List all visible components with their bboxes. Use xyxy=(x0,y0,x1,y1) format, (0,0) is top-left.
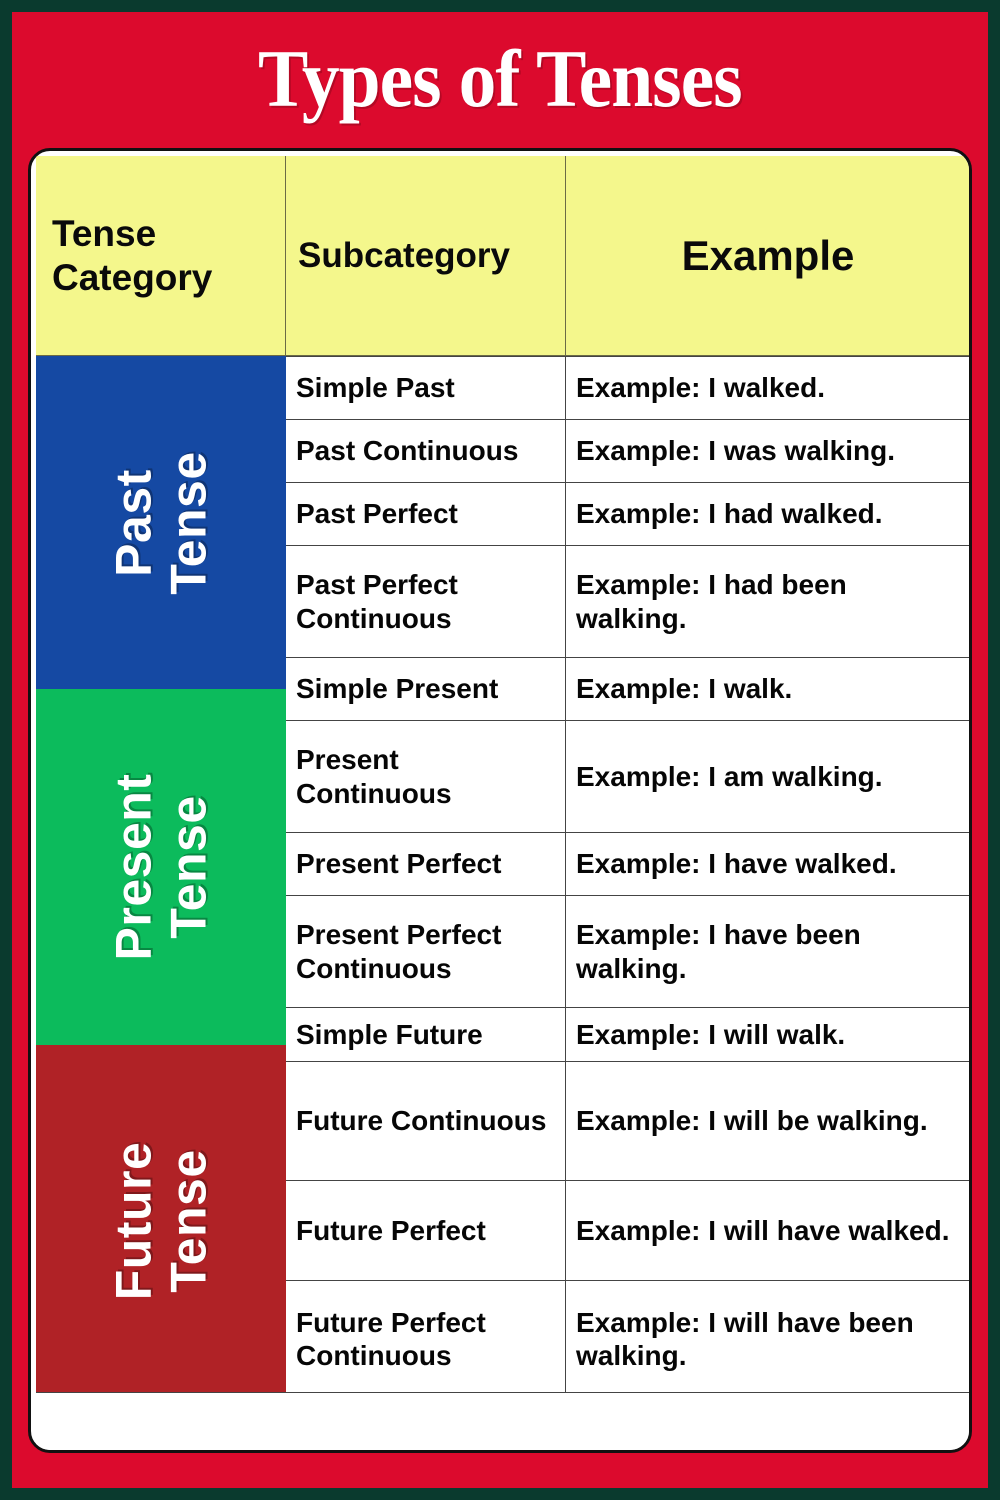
table-row: Example: I will have walked. xyxy=(566,1180,970,1280)
cell-example: Example: I walk. xyxy=(576,672,792,705)
table-header-category-label: Tense Category xyxy=(36,212,226,299)
table-row: Past Continuous xyxy=(286,419,566,482)
table-row: Example: I had been walking. xyxy=(566,545,970,657)
table-row: Simple Present xyxy=(286,657,566,720)
cell-subcategory: Future Perfect Continuous xyxy=(296,1306,555,1372)
cell-subcategory: Future Perfect xyxy=(296,1214,486,1247)
cell-subcategory: Past Continuous xyxy=(296,434,518,467)
table-row: Present Perfect xyxy=(286,832,566,895)
table-header-subcategory-label: Subcategory xyxy=(286,235,524,276)
category-label-present-tense: Present Tense xyxy=(108,774,215,961)
cell-subcategory: Present Perfect xyxy=(296,847,501,880)
table-header-example: Example xyxy=(566,156,970,356)
table-bottom-strip xyxy=(36,1392,970,1451)
table-row: Past Perfect xyxy=(286,482,566,545)
cell-example: Example: I had walked. xyxy=(576,497,883,530)
page-title: Types of Tenses xyxy=(258,38,742,120)
title-band: Types of Tenses xyxy=(12,12,988,145)
category-past-word2: Tense xyxy=(162,451,215,594)
table-row: Present Perfect Continuous xyxy=(286,895,566,1007)
header-category-line2: Category xyxy=(52,257,212,298)
table-row: Example: I will walk. xyxy=(566,1007,970,1061)
category-block-present-tense: Present Tense xyxy=(36,689,286,1045)
table-header-subcategory: Subcategory xyxy=(286,156,566,356)
category-present-word2: Tense xyxy=(162,795,215,938)
category-future-word1: Future xyxy=(108,1142,161,1301)
tenses-table: Tense Category Subcategory Example Past … xyxy=(36,156,970,1392)
table-row: Example: I walk. xyxy=(566,657,970,720)
category-block-future-tense: Future Tense xyxy=(36,1045,286,1397)
table-row: Example: I have walked. xyxy=(566,832,970,895)
cell-example: Example: I walked. xyxy=(576,371,825,404)
table-row: Example: I had walked. xyxy=(566,482,970,545)
cell-subcategory: Past Perfect Continuous xyxy=(296,568,555,634)
cell-subcategory: Past Perfect xyxy=(296,497,458,530)
cell-subcategory: Simple Present xyxy=(296,672,498,705)
poster-root: Types of Tenses Tense Category Subcatego… xyxy=(0,0,1000,1500)
cell-example: Example: I have been walking. xyxy=(576,918,960,984)
table-row: Present Continuous xyxy=(286,720,566,832)
cell-subcategory: Simple Past xyxy=(296,371,455,404)
cell-example: Example: I will have walked. xyxy=(576,1214,950,1247)
category-block-past-tense: Past Tense xyxy=(36,356,286,689)
category-future-word2: Tense xyxy=(162,1149,215,1292)
table-row: Example: I was walking. xyxy=(566,419,970,482)
category-label-future-tense: Future Tense xyxy=(108,1142,215,1301)
category-present-word1: Present xyxy=(108,774,161,961)
cell-subcategory: Present Continuous xyxy=(296,743,555,809)
table-row: Simple Past xyxy=(286,356,566,419)
category-past-word1: Past xyxy=(108,469,161,577)
cell-subcategory: Present Perfect Continuous xyxy=(296,918,555,984)
header-category-line1: Tense xyxy=(52,213,156,254)
table-row: Example: I am walking. xyxy=(566,720,970,832)
table-row: Simple Future xyxy=(286,1007,566,1061)
cell-example: Example: I had been walking. xyxy=(576,568,960,634)
cell-example: Example: I am walking. xyxy=(576,760,883,793)
table-row: Example: I will have been walking. xyxy=(566,1280,970,1397)
cell-subcategory: Future Continuous xyxy=(296,1104,546,1137)
table-header-example-label: Example xyxy=(566,231,970,281)
table-card: Tense Category Subcategory Example Past … xyxy=(28,148,972,1453)
cell-subcategory: Simple Future xyxy=(296,1018,483,1051)
cell-example: Example: I have walked. xyxy=(576,847,897,880)
cell-example: Example: I will walk. xyxy=(576,1018,845,1051)
table-row: Future Perfect xyxy=(286,1180,566,1280)
cell-example: Example: I will have been walking. xyxy=(576,1306,960,1372)
cell-example: Example: I was walking. xyxy=(576,434,895,467)
table-header-category: Tense Category xyxy=(36,156,286,356)
table-row: Past Perfect Continuous xyxy=(286,545,566,657)
table-row: Example: I will be walking. xyxy=(566,1061,970,1180)
category-label-past-tense: Past Tense xyxy=(108,451,215,594)
cell-example: Example: I will be walking. xyxy=(576,1104,928,1137)
table-row: Future Perfect Continuous xyxy=(286,1280,566,1397)
table-row: Future Continuous xyxy=(286,1061,566,1180)
table-row: Example: I walked. xyxy=(566,356,970,419)
table-row: Example: I have been walking. xyxy=(566,895,970,1007)
